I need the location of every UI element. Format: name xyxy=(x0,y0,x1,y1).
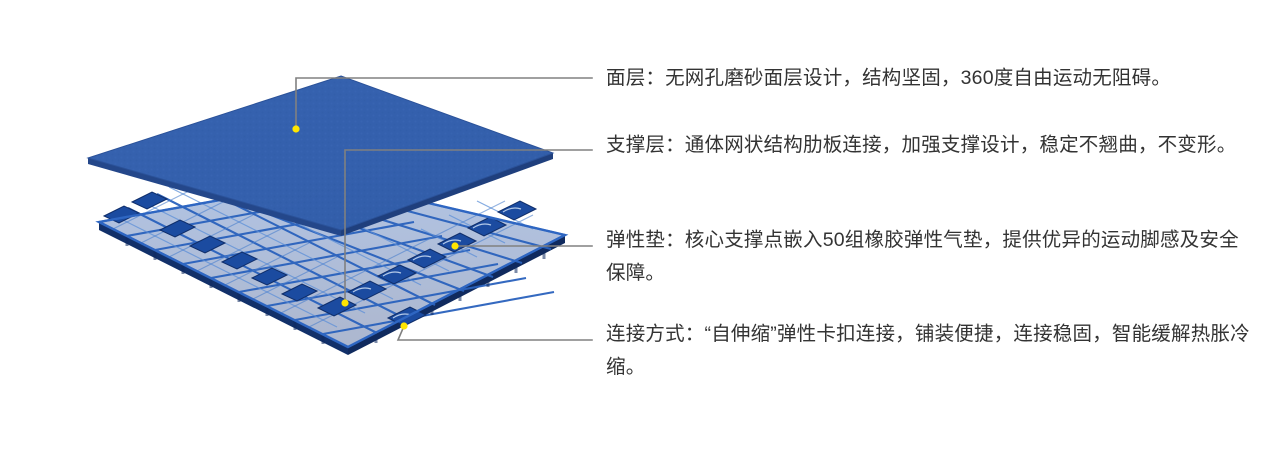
callout-text-elastic-pad: 弹性垫：核心支撑点嵌入50组橡胶弹性气垫，提供优异的运动脚感及安全保障。 xyxy=(606,224,1254,290)
callout-text-connection-method: 连接方式：“自伸缩”弹性卡扣连接，铺装便捷，连接稳固，智能缓解热胀冷缩。 xyxy=(606,318,1254,384)
callout-text-support-layer: 支撑层：通体网状结构肋板连接，加强支撑设计，稳定不翘曲，不变形。 xyxy=(606,129,1254,162)
callout-text-surface-layer: 面层：无网孔磨砂面层设计，结构坚固，360度自由运动无阻碍。 xyxy=(606,62,1254,95)
product-illustration xyxy=(0,0,600,475)
diagram-stage: 面层：无网孔磨砂面层设计，结构坚固，360度自由运动无阻碍。 支撑层：通体网状结… xyxy=(0,0,1280,475)
